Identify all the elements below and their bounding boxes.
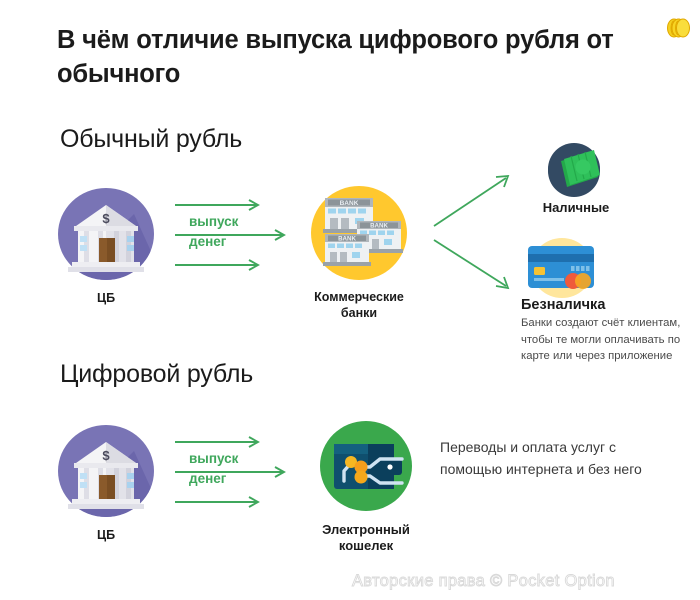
page-title: В чём отличие выпуска цифрового рубля от… bbox=[57, 24, 617, 92]
node-label-central-bank-digital: ЦБ bbox=[58, 528, 154, 544]
bank-sign-label-3: BANK bbox=[338, 236, 356, 243]
bank-sign-label-1: BANK bbox=[340, 200, 359, 207]
infographic-page: В чём отличие выпуска цифрового рубля от… bbox=[0, 0, 700, 600]
coins-stack-icon bbox=[663, 14, 693, 42]
bank-building-icon: $ bbox=[58, 188, 154, 280]
node-label-cashless: Безналичка bbox=[521, 297, 605, 313]
node-label-commercial-banks: Коммерческие банки bbox=[279, 290, 439, 321]
commercial-banks-icon: BANK BANK bbox=[311, 186, 407, 280]
credit-card-icon bbox=[523, 236, 605, 298]
node-label-digital-wallet: Электронный кошелек bbox=[292, 522, 440, 555]
node-label-line1: Коммерческие bbox=[279, 290, 439, 306]
arrow-label-line2: денег bbox=[189, 232, 238, 252]
arrow-label-issuance-digital: выпуск денег bbox=[189, 449, 238, 488]
cashless-description: Банки создают счёт клиентам, чтобы те мо… bbox=[521, 315, 693, 365]
node-label-line1: Электронный bbox=[292, 522, 440, 538]
arrow-label-line1: выпуск bbox=[189, 449, 238, 469]
arrow-label-issuance-ordinary: выпуск денег bbox=[189, 212, 238, 251]
arrow-label-line1: выпуск bbox=[189, 212, 238, 232]
branch-arrows-ordinary bbox=[432, 168, 532, 288]
bank-sign-label-2: BANK bbox=[370, 223, 388, 230]
section-heading-ordinary-ruble: Обычный рубль bbox=[60, 125, 242, 154]
arrow-label-line2: денег bbox=[189, 469, 238, 489]
section-heading-digital-ruble: Цифровой рубль bbox=[60, 360, 253, 389]
svg-text:$: $ bbox=[102, 448, 110, 463]
svg-text:$: $ bbox=[102, 211, 110, 226]
banknotes-icon bbox=[548, 143, 600, 195]
node-label-line2: банки bbox=[279, 306, 439, 322]
node-label-line2: кошелек bbox=[292, 538, 440, 554]
watermark: Авторские права © Pocket Option bbox=[352, 572, 615, 591]
bank-building-icon: $ bbox=[58, 425, 154, 517]
node-label-cash: Наличные bbox=[520, 200, 632, 216]
wallet-description: Переводы и оплата услуг с помощью интерн… bbox=[440, 437, 660, 480]
node-label-central-bank: ЦБ bbox=[58, 291, 154, 307]
digital-wallet-icon bbox=[320, 421, 412, 511]
